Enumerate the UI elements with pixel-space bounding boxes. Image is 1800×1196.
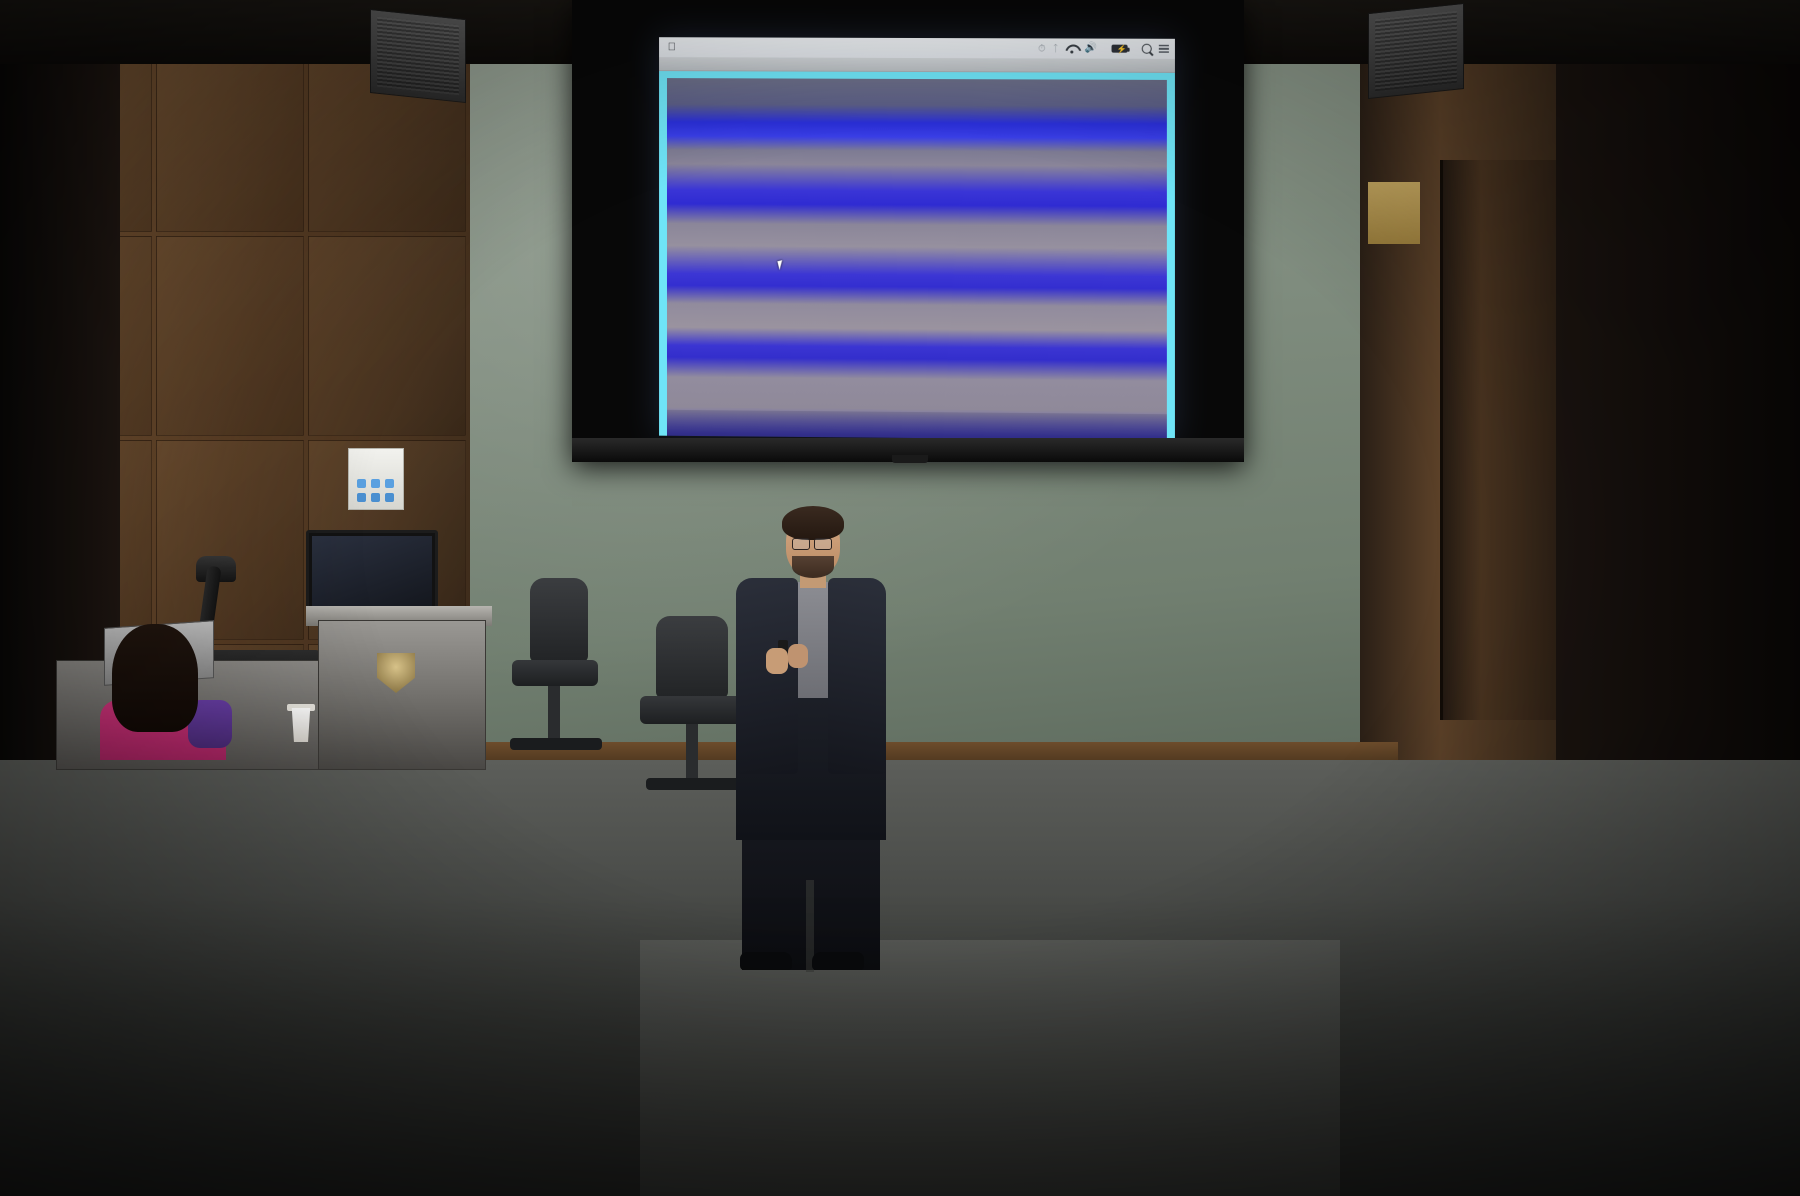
ceiling-speaker-right bbox=[1368, 3, 1464, 99]
screen-case-foot bbox=[892, 455, 928, 463]
slide-thumbnail-strip[interactable] bbox=[667, 410, 1167, 440]
volume-icon[interactable]: 🔊 bbox=[1085, 44, 1098, 54]
presenter-glasses-right bbox=[814, 538, 832, 550]
presenter-shoe-right bbox=[812, 952, 864, 970]
monitor-screen bbox=[312, 536, 432, 606]
flash-stage-border bbox=[659, 71, 1175, 440]
door-sign bbox=[1368, 182, 1420, 244]
mac-menu-bar:  ⏱ ᛏ 🔊 ⚡ bbox=[659, 37, 1175, 59]
presentation-slide bbox=[667, 78, 1167, 440]
notification-center-icon[interactable] bbox=[1159, 44, 1169, 53]
lectern-monitor bbox=[306, 530, 438, 612]
bluetooth-icon[interactable]: ᛏ bbox=[1053, 43, 1059, 54]
presenter-glasses-left bbox=[792, 538, 810, 550]
lectern bbox=[318, 620, 486, 770]
presenter-jacket-right bbox=[828, 578, 886, 774]
far-right-dark-wall bbox=[1556, 0, 1800, 780]
apple-icon[interactable]:  bbox=[665, 41, 679, 53]
time-machine-icon[interactable]: ⏱ bbox=[1038, 43, 1046, 54]
speaker-grille-icon bbox=[1375, 11, 1457, 92]
university-crest-icon bbox=[377, 653, 415, 693]
presenter-shoe-left bbox=[740, 952, 792, 970]
search-icon[interactable] bbox=[1142, 44, 1152, 54]
wall-control-panel[interactable] bbox=[348, 448, 404, 510]
presenter-hand-left bbox=[766, 648, 788, 674]
presenter-hair bbox=[782, 506, 844, 540]
battery-charging-icon[interactable]: ⚡ bbox=[1112, 45, 1128, 53]
presenter-beard bbox=[792, 556, 834, 578]
speaker-grille-icon bbox=[377, 17, 459, 96]
wifi-icon[interactable] bbox=[1066, 44, 1078, 53]
floor-front-lit-area bbox=[640, 940, 1340, 1196]
projected-desktop:  ⏱ ᛏ 🔊 ⚡ bbox=[659, 37, 1175, 440]
lecture-hall-photo:  ⏱ ᛏ 🔊 ⚡ bbox=[0, 0, 1800, 1196]
presenter-jacket-left bbox=[736, 578, 798, 774]
exit-door bbox=[1440, 160, 1570, 720]
ceiling-speaker-left bbox=[370, 9, 466, 103]
presenter-hand-right bbox=[788, 644, 808, 668]
seated-person-head bbox=[112, 624, 198, 732]
